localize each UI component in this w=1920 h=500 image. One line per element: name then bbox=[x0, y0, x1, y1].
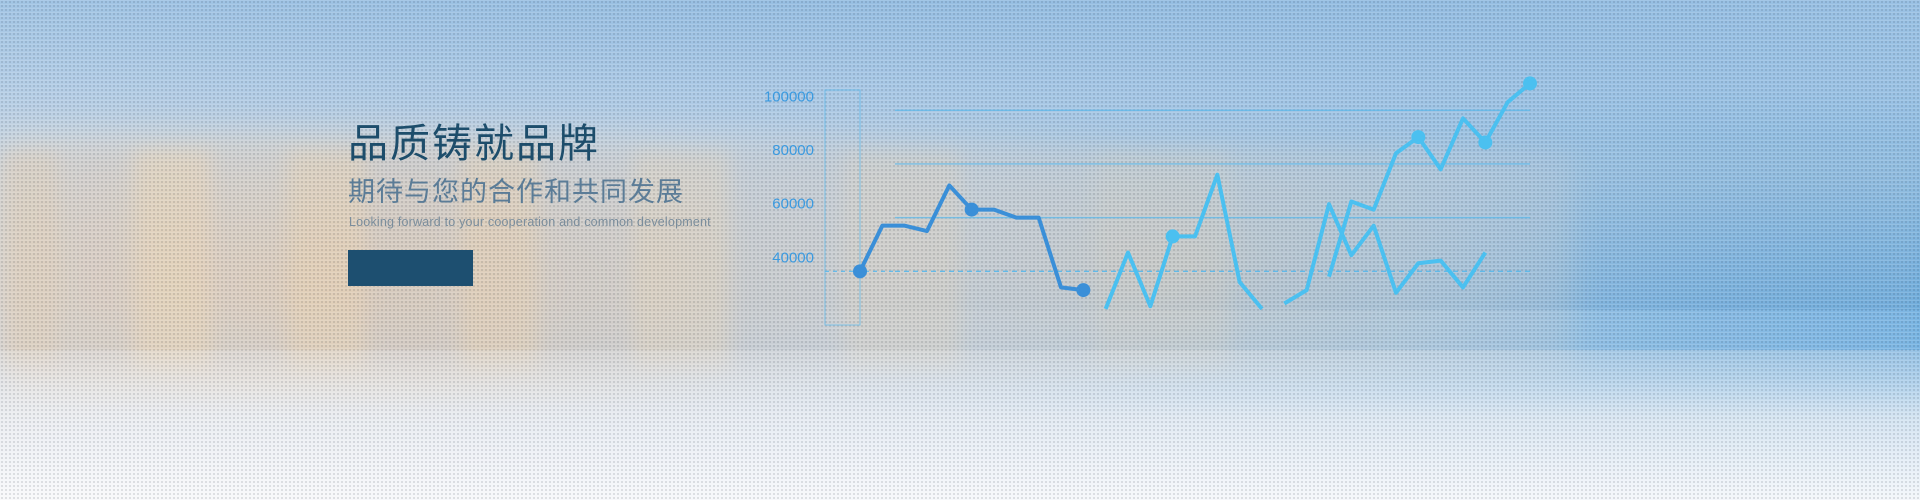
chart-line bbox=[860, 185, 1083, 290]
y-axis-tick-label: 80000 bbox=[772, 142, 814, 159]
cta-button[interactable] bbox=[348, 250, 473, 286]
y-axis-tick-label: 100000 bbox=[764, 88, 814, 105]
chart-canvas: 100000800006000040000 bbox=[760, 60, 1550, 360]
chart-data-point bbox=[853, 264, 867, 278]
page-subtitle-en: Looking forward to your cooperation and … bbox=[349, 216, 711, 229]
page-title: 品质铸就品牌 bbox=[348, 124, 600, 164]
chart-line bbox=[1106, 175, 1262, 309]
y-axis-tick-label: 40000 bbox=[772, 249, 814, 266]
page-subtitle: 期待与您的合作和共同发展 bbox=[348, 179, 684, 206]
chart-data-point bbox=[1411, 130, 1425, 144]
banner-content: 品质铸就品牌 期待与您的合作和共同发展 Looking forward to y… bbox=[348, 0, 768, 500]
chart-line bbox=[1284, 204, 1485, 303]
chart-data-point bbox=[1523, 76, 1537, 90]
hero-banner: 品质铸就品牌 期待与您的合作和共同发展 Looking forward to y… bbox=[0, 0, 1920, 500]
chart-data-point bbox=[1166, 229, 1180, 243]
y-axis-tick-label: 60000 bbox=[772, 196, 814, 213]
chart-data-point bbox=[1478, 135, 1492, 149]
chart-data-point bbox=[965, 203, 979, 217]
axis-frame bbox=[825, 90, 860, 325]
chart-data-point bbox=[1076, 283, 1090, 297]
line-chart: 100000800006000040000 bbox=[760, 60, 1550, 360]
